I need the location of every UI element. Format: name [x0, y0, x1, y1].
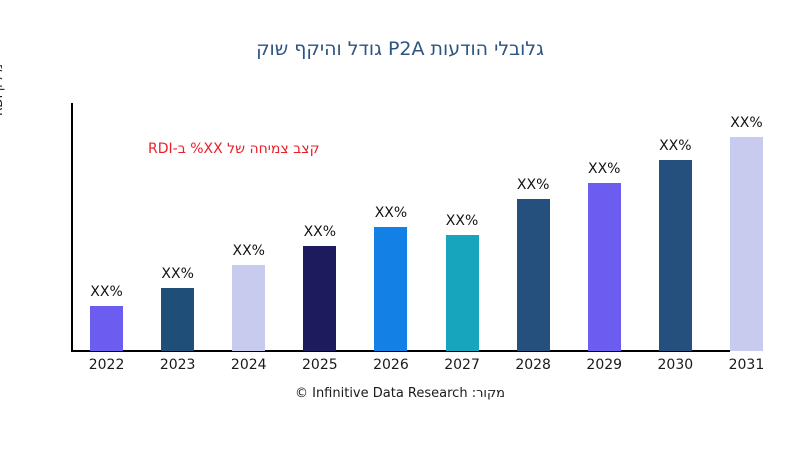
- x-tick-2025: 2025: [290, 357, 350, 373]
- bar-value-label-2028: XX%: [503, 177, 563, 193]
- x-tick-2028: 2028: [503, 357, 563, 373]
- bar-value-label-2024: XX%: [219, 243, 279, 259]
- bar-2027[interactable]: [446, 235, 479, 351]
- x-tick-2029: 2029: [574, 357, 634, 373]
- bar-2030[interactable]: [659, 160, 692, 351]
- bar-2029[interactable]: [588, 183, 621, 351]
- bar-2025[interactable]: [303, 246, 336, 351]
- bar-value-label-2026: XX%: [361, 205, 421, 221]
- bar-2031[interactable]: [730, 137, 763, 351]
- bar-value-label-2027: XX%: [432, 213, 492, 229]
- bar-2024[interactable]: [232, 265, 265, 351]
- bar-value-label-2022: XX%: [77, 284, 137, 300]
- chart-container: גלובלי הודעות A2P גודל והיקף שוק מיליון …: [0, 0, 800, 450]
- bar-value-label-2025: XX%: [290, 224, 350, 240]
- x-tick-2031: 2031: [716, 357, 776, 373]
- x-tick-2026: 2026: [361, 357, 421, 373]
- source-attribution: מקור: Infinitive Data Research ©: [0, 386, 800, 401]
- x-tick-2022: 2022: [77, 357, 137, 373]
- x-tick-2027: 2027: [432, 357, 492, 373]
- x-tick-2024: 2024: [219, 357, 279, 373]
- bar-value-label-2023: XX%: [148, 266, 208, 282]
- bar-value-label-2031: XX%: [716, 115, 776, 131]
- x-tick-2030: 2030: [645, 357, 705, 373]
- bar-value-label-2029: XX%: [574, 161, 634, 177]
- bar-2022[interactable]: [90, 306, 123, 351]
- bar-2028[interactable]: [517, 199, 550, 351]
- bar-2026[interactable]: [374, 227, 407, 351]
- bar-2023[interactable]: [161, 288, 194, 351]
- x-tick-2023: 2023: [148, 357, 208, 373]
- bar-value-label-2030: XX%: [645, 138, 705, 154]
- bar-series: XX%2022XX%2023XX%2024XX%2025XX%2026XX%20…: [0, 0, 800, 450]
